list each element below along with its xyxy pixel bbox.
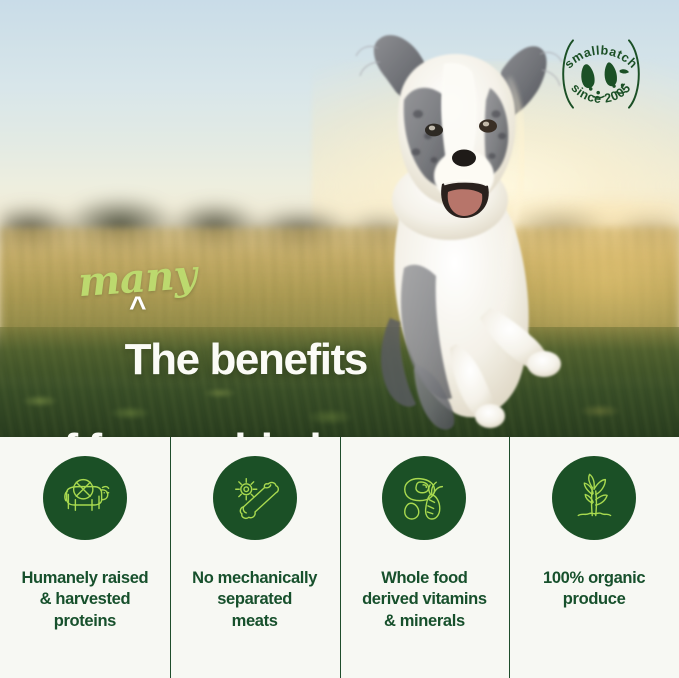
sprout-plant-icon	[566, 470, 622, 526]
page-title: The benefits of freeze-dried	[38, 293, 367, 437]
feature-badge	[552, 456, 636, 540]
smallbatch-logo: smallbatch since 2005	[545, 18, 657, 130]
feature-item-humanely-raised: Humanely raised & harvested proteins	[0, 437, 170, 678]
feature-row: Humanely raised & harvested proteins No …	[0, 437, 679, 678]
logo-top-text: smallbatch	[562, 43, 641, 71]
product-infographic: smallbatch since 2005	[0, 0, 679, 678]
feature-item-whole-food-vitamins: Whole food derived vitamins & minerals	[340, 437, 510, 678]
feature-label: Whole food derived vitamins & minerals	[356, 568, 493, 632]
feature-badge	[382, 456, 466, 540]
feature-label: 100% organic produce	[537, 568, 651, 611]
feature-item-no-mechanically-separated: No mechanically separated meats	[170, 437, 340, 678]
feature-badge	[213, 456, 297, 540]
svg-text:smallbatch: smallbatch	[562, 43, 641, 71]
feature-badge	[43, 456, 127, 540]
feature-label: No mechanically separated meats	[186, 568, 323, 632]
feature-label: Humanely raised & harvested proteins	[15, 568, 154, 632]
hero-image: smallbatch since 2005	[0, 0, 679, 437]
headline-line-2: of freeze-dried	[38, 428, 367, 437]
gear-bone-icon	[227, 470, 283, 526]
feature-item-organic-produce: 100% organic produce	[509, 437, 679, 678]
headline-line-1: The benefits	[125, 335, 367, 384]
running-dog-photo	[330, 18, 580, 437]
steak-egg-carrot-icon	[396, 470, 452, 526]
cow-no-symbol-icon	[57, 470, 113, 526]
